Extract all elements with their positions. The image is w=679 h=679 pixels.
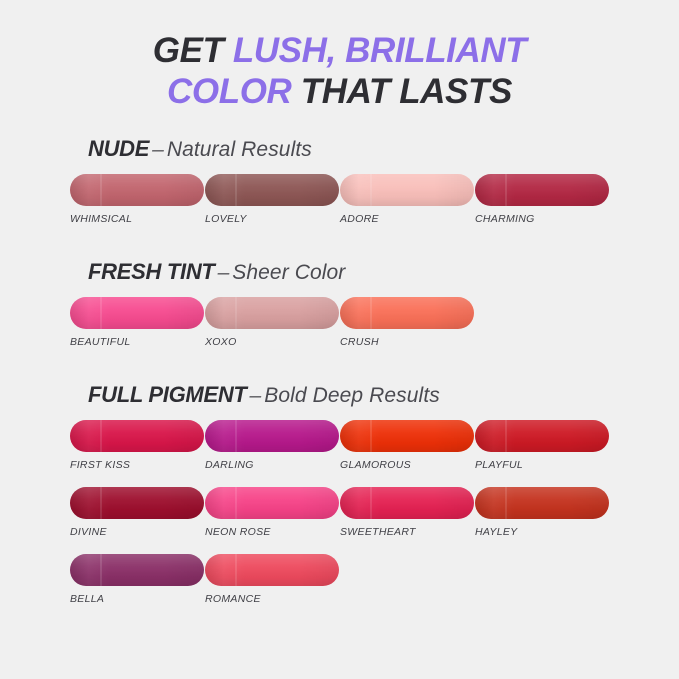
swatch-whimsical[interactable]: WHIMSICAL <box>70 174 205 225</box>
swatch-xoxo[interactable]: XOXO <box>205 297 340 348</box>
swatch-label-glamorous: GLAMOROUS <box>340 459 475 471</box>
swatch-label-crush: CRUSH <box>340 336 475 348</box>
swatch-first-kiss[interactable]: FIRST KISS <box>70 420 205 471</box>
swatch-playful[interactable]: PLAYFUL <box>475 420 610 471</box>
swatch-color-first-kiss[interactable] <box>70 420 204 452</box>
swatch-label-bella: BELLA <box>70 593 205 605</box>
section-nude-name: NUDE <box>88 136 149 161</box>
swatch-color-hayley[interactable] <box>475 487 609 519</box>
section-fresh-tint-name: FRESH TINT <box>88 259 215 284</box>
section-fresh-tint-swatches: BEAUTIFUL XOXO CRUSH <box>70 297 639 364</box>
swatch-hayley[interactable]: HAYLEY <box>475 487 610 538</box>
swatch-color-divine[interactable] <box>70 487 204 519</box>
section-full-pigment-swatches: FIRST KISS DARLING GLAMOROUS PLAYFUL DIV… <box>70 420 639 621</box>
swatch-beautiful[interactable]: BEAUTIFUL <box>70 297 205 348</box>
headline-text-get: GET <box>153 31 233 70</box>
swatch-color-charming[interactable] <box>475 174 609 206</box>
swatch-color-beautiful[interactable] <box>70 297 204 329</box>
swatch-color-glamorous[interactable] <box>340 420 474 452</box>
swatch-color-xoxo[interactable] <box>205 297 339 329</box>
swatch-neon-rose[interactable]: NEON ROSE <box>205 487 340 538</box>
swatch-crush[interactable]: CRUSH <box>340 297 475 348</box>
section-nude-swatches: WHIMSICAL LOVELY ADORE CHARMING <box>70 174 639 241</box>
swatch-label-charming: CHARMING <box>475 213 610 225</box>
swatch-color-romance[interactable] <box>205 554 339 586</box>
headline-line-1: GET LUSH, BRILLIANT <box>0 30 679 71</box>
headline-text-that-lasts: THAT LASTS <box>291 72 512 111</box>
page-title: GET LUSH, BRILLIANT COLOR THAT LASTS <box>0 0 679 112</box>
swatch-label-darling: DARLING <box>205 459 340 471</box>
section-full-pigment-heading: FULL PIGMENT–Bold Deep Results <box>88 384 639 406</box>
swatch-label-whimsical: WHIMSICAL <box>70 213 205 225</box>
swatch-color-neon-rose[interactable] <box>205 487 339 519</box>
swatch-adore[interactable]: ADORE <box>340 174 475 225</box>
headline-accent-color: COLOR <box>167 72 291 111</box>
swatch-color-sweetheart[interactable] <box>340 487 474 519</box>
swatch-glamorous[interactable]: GLAMOROUS <box>340 420 475 471</box>
section-full-pigment-dash: – <box>247 384 265 407</box>
swatch-romance[interactable]: ROMANCE <box>205 554 340 605</box>
swatch-label-sweetheart: SWEETHEART <box>340 526 475 538</box>
section-nude-description: Natural Results <box>167 138 312 161</box>
swatch-divine[interactable]: DIVINE <box>70 487 205 538</box>
swatch-color-adore[interactable] <box>340 174 474 206</box>
section-fresh-tint-heading: FRESH TINT–Sheer Color <box>88 261 639 283</box>
section-fresh-tint: FRESH TINT–Sheer Color BEAUTIFUL XOXO CR… <box>70 261 639 364</box>
section-nude-dash: – <box>149 138 167 161</box>
swatch-lovely[interactable]: LOVELY <box>205 174 340 225</box>
section-full-pigment: FULL PIGMENT–Bold Deep Results FIRST KIS… <box>70 384 639 621</box>
section-full-pigment-description: Bold Deep Results <box>264 384 440 407</box>
swatch-color-playful[interactable] <box>475 420 609 452</box>
swatch-label-first-kiss: FIRST KISS <box>70 459 205 471</box>
lipstick-shade-poster: GET LUSH, BRILLIANT COLOR THAT LASTS NUD… <box>0 0 679 679</box>
swatch-label-playful: PLAYFUL <box>475 459 610 471</box>
section-nude: NUDE–Natural Results WHIMSICAL LOVELY AD… <box>70 138 639 241</box>
section-full-pigment-name: FULL PIGMENT <box>88 382 247 407</box>
headline-line-2: COLOR THAT LASTS <box>0 71 679 112</box>
swatch-color-whimsical[interactable] <box>70 174 204 206</box>
swatch-label-divine: DIVINE <box>70 526 205 538</box>
swatch-color-lovely[interactable] <box>205 174 339 206</box>
section-fresh-tint-description: Sheer Color <box>232 261 345 284</box>
swatch-label-neon-rose: NEON ROSE <box>205 526 340 538</box>
shade-sections: NUDE–Natural Results WHIMSICAL LOVELY AD… <box>0 138 679 621</box>
swatch-label-beautiful: BEAUTIFUL <box>70 336 205 348</box>
swatch-label-xoxo: XOXO <box>205 336 340 348</box>
swatch-color-darling[interactable] <box>205 420 339 452</box>
headline-accent-lush-brilliant: LUSH, BRILLIANT <box>233 31 526 70</box>
swatch-charming[interactable]: CHARMING <box>475 174 610 225</box>
swatch-color-crush[interactable] <box>340 297 474 329</box>
swatch-darling[interactable]: DARLING <box>205 420 340 471</box>
swatch-label-lovely: LOVELY <box>205 213 340 225</box>
section-nude-heading: NUDE–Natural Results <box>88 138 639 160</box>
swatch-label-hayley: HAYLEY <box>475 526 610 538</box>
swatch-sweetheart[interactable]: SWEETHEART <box>340 487 475 538</box>
section-fresh-tint-dash: – <box>215 261 233 284</box>
swatch-label-adore: ADORE <box>340 213 475 225</box>
swatch-bella[interactable]: BELLA <box>70 554 205 605</box>
swatch-color-bella[interactable] <box>70 554 204 586</box>
swatch-label-romance: ROMANCE <box>205 593 340 605</box>
